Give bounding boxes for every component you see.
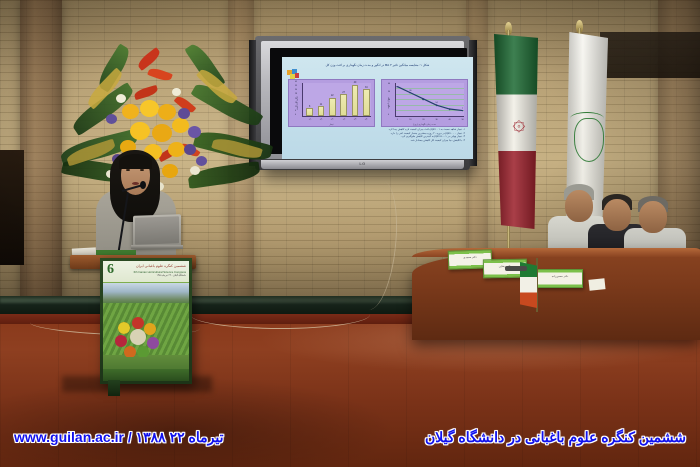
line-chart-xlabel: مدت زمان نگهداری (روز) <box>382 123 467 126</box>
bar-x-tick: T2 <box>320 118 323 121</box>
line-x-tick: 30 <box>435 119 437 121</box>
bar-value-label: 34 <box>365 87 368 89</box>
bar: 34T6 <box>363 89 370 116</box>
data-point <box>423 98 425 100</box>
poster-fruit-wreath-icon <box>115 317 161 357</box>
poster-subtitle-fa: دانشگاه گیلان - ۲۲ تیرماه ۱۳۸۸ <box>157 274 186 277</box>
bar-chart-xlabel: تیمار <box>289 123 374 126</box>
bar: 11T2 <box>318 106 325 116</box>
congress-poster: 6 ششمین کنگره علوم باغبانی ایران 6th Ira… <box>103 261 189 381</box>
conference-photo: شکل ۱: مقایسه میانگین تاثیر ۳ BA در انگو… <box>0 0 700 467</box>
bar-y-tick: 45 <box>295 81 297 83</box>
poster-header: 6 ششمین کنگره علوم باغبانی ایران 6th Ira… <box>103 261 189 282</box>
bar: 22T3 <box>329 98 336 116</box>
university-logo-swoosh-icon <box>570 112 604 125</box>
data-point-label: 30 <box>409 90 411 92</box>
data-point <box>397 86 399 88</box>
laptop-display <box>135 216 179 245</box>
bar-y-tick: 28 <box>295 93 297 95</box>
panelist-3-head <box>639 201 667 233</box>
name-card: دکتر حسین‌زاده <box>537 269 583 288</box>
data-point <box>462 110 464 112</box>
bar-x-tick: T6 <box>365 118 368 121</box>
bar-x-tick: T3 <box>331 118 334 121</box>
line-x-tick: 20 <box>422 119 424 121</box>
desk-microphone <box>505 266 527 271</box>
line-chart-series <box>396 83 464 116</box>
bar-value-label: 27 <box>342 92 345 94</box>
line-y-tick: 30 <box>388 91 390 93</box>
laptop-screen <box>133 214 181 248</box>
bar: 8T1 <box>306 108 313 116</box>
presentation-slide: شکل ۱: مقایسه میانگین تاثیر ۳ BA در انگو… <box>282 57 473 159</box>
bar-value-label: 40 <box>354 82 357 84</box>
iran-flag-emblem-icon: ۞ <box>508 110 530 136</box>
line-x-tick: 40 <box>449 119 451 121</box>
bar-y-tick: 17 <box>295 102 297 104</box>
bar-x-tick: T4 <box>343 118 346 121</box>
bar-value-label: 8 <box>309 106 310 108</box>
display-bezel: شکل ۱: مقایسه میانگین تاثیر ۳ BA در انگو… <box>261 41 464 159</box>
speaker-hairline <box>119 154 152 169</box>
line-y-tick: 20 <box>388 99 390 101</box>
bar: 27T4 <box>340 94 347 116</box>
bar-y-tick: 6 <box>295 110 296 112</box>
speaker-eye-left <box>126 169 130 171</box>
data-point-label: 14 <box>435 102 437 104</box>
bar: 40T5 <box>352 85 359 116</box>
name-card-text: دکتر حسین‌زاده <box>538 275 582 278</box>
bar-x-tick: T5 <box>354 118 357 121</box>
laptop-hinge <box>131 245 183 249</box>
line-x-tick: 50 <box>462 119 464 121</box>
floor-cable <box>190 300 370 329</box>
slide-bullet-list: ۱- تیمار شاهد نسبت به ppm ۰ ۱ باعث میزان… <box>290 128 465 142</box>
podium: 6 ششمین کنگره علوم باغبانی ایران 6th Ira… <box>100 258 192 384</box>
line-x-tick: 0 <box>397 119 398 121</box>
bar-x-tick: T1 <box>309 118 312 121</box>
data-point <box>449 108 451 110</box>
display-screen-frame: شکل ۱: مقایسه میانگین تاثیر ۳ BA در انگو… <box>270 48 467 154</box>
slide-bullet: ۴- با کاهش دما میزان کیفیت کل کاهش معناد… <box>290 139 465 143</box>
poster-title-fa: ششمین کنگره علوم باغبانی ایران <box>136 264 186 268</box>
desk-paper <box>588 278 605 291</box>
data-point-label: 7 <box>462 108 463 110</box>
speaker-eye-right <box>140 169 144 171</box>
line-chart: میزان کیفیت 0301020143040750010203040 مد… <box>381 79 468 127</box>
podium-base <box>108 380 120 396</box>
poster-title-en: 6th Iranian Horticultural Science Congre… <box>134 270 186 274</box>
poster-landscape-image <box>103 283 189 305</box>
bar-value-label: 11 <box>320 104 322 106</box>
data-point <box>410 92 412 94</box>
bar-y-tick: 0 <box>295 114 296 116</box>
lg-logo: LG <box>359 161 365 166</box>
poster-edition-number: 6 <box>107 263 114 277</box>
line-y-tick: 10 <box>388 106 390 108</box>
bar-y-tick: 23 <box>295 98 297 100</box>
bar-chart-plot-area: 8T111T222T327T440T534T60611172328343945 <box>302 83 371 117</box>
data-point <box>436 104 438 106</box>
wall-mounted-display: شکل ۱: مقایسه میانگین تاثیر ۳ BA در انگو… <box>255 36 470 170</box>
slide-title: شکل ۱: مقایسه میانگین تاثیر ۳ BA در انگو… <box>290 63 465 67</box>
bar-y-tick: 11 <box>295 106 297 108</box>
bar-y-tick: 39 <box>295 85 297 87</box>
microphone-head <box>140 181 146 189</box>
line-y-tick: 0 <box>388 114 389 116</box>
line-y-tick: 40 <box>388 83 390 85</box>
bar-chart: درصد افت وزن 8T111T222T327T440T534T60611… <box>288 79 375 127</box>
line-chart-plot-area: 0301020143040750010203040 <box>395 83 464 117</box>
bar-value-label: 22 <box>331 95 334 97</box>
line-x-tick: 10 <box>409 119 411 121</box>
bar-y-tick: 34 <box>295 89 297 91</box>
